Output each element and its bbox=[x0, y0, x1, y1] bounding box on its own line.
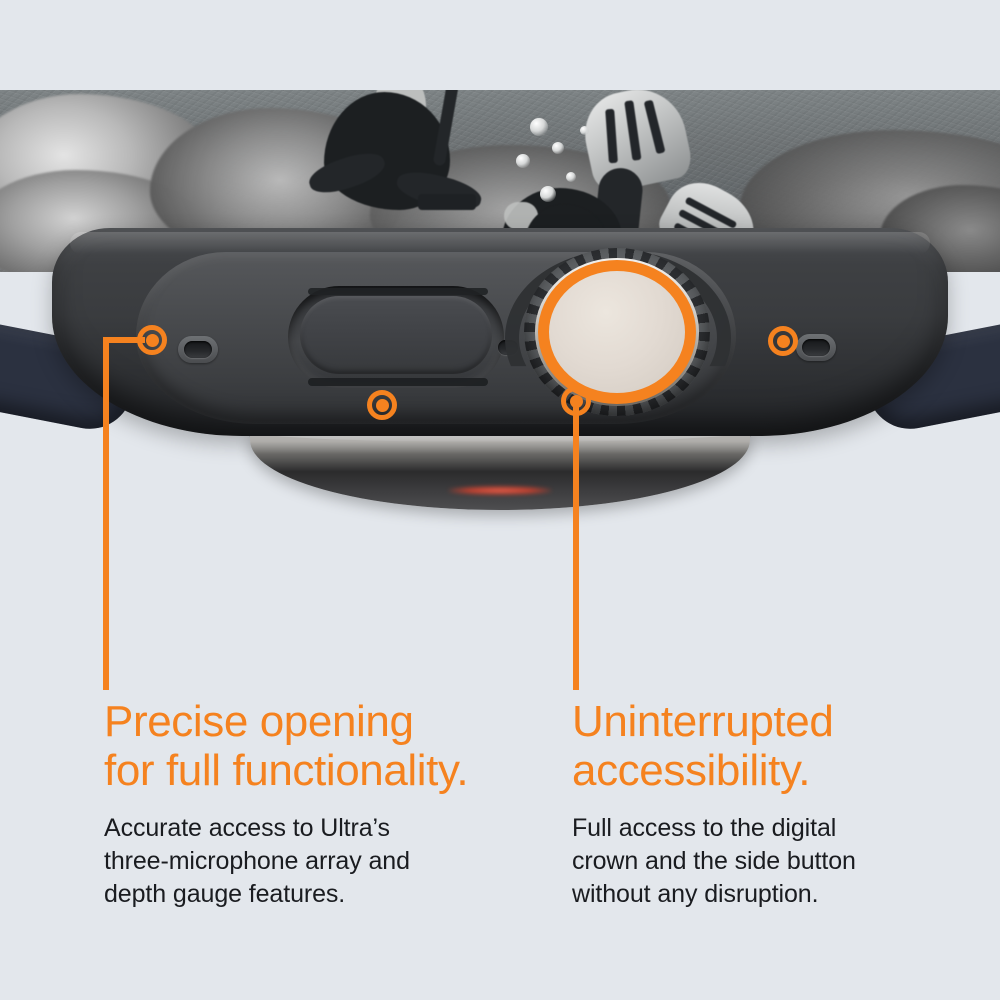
air-bubble bbox=[566, 172, 576, 182]
case-top-highlight bbox=[70, 232, 930, 254]
callout-heading-microphone: Precise opening for full functionality. bbox=[104, 697, 544, 796]
button-slot-lower bbox=[308, 378, 488, 386]
callout-heading-crown: Uninterrupted accessibility. bbox=[572, 697, 992, 796]
marker-dot bbox=[777, 335, 790, 348]
air-bubble bbox=[516, 154, 530, 168]
product-feature-callout-page: Precise opening for full functionality. … bbox=[0, 0, 1000, 1000]
scuba-diver-primary bbox=[300, 90, 480, 246]
sensor-back-glass bbox=[250, 430, 750, 510]
microphone-port-left bbox=[184, 341, 212, 358]
fin-rib bbox=[644, 100, 666, 155]
marker-dot bbox=[146, 334, 159, 347]
heading-line-1: Precise opening bbox=[104, 697, 414, 746]
marker-digital-crown[interactable] bbox=[561, 386, 591, 416]
leader-line-right-vertical bbox=[573, 398, 579, 690]
heading-line-1: Uninterrupted bbox=[572, 697, 833, 746]
side-button-pill bbox=[300, 296, 492, 374]
body-line-1: Full access to the digital bbox=[572, 814, 836, 842]
crown-highlight-ring bbox=[538, 260, 696, 404]
body-line-3: without any disruption. bbox=[572, 880, 818, 908]
air-bubble bbox=[552, 142, 564, 154]
callout-text-microphone: Precise opening for full functionality. … bbox=[104, 697, 544, 911]
fin-rib bbox=[624, 100, 641, 161]
callout-body-microphone: Accurate access to Ultra’s three-microph… bbox=[104, 812, 544, 911]
body-line-1: Accurate access to Ultra’s bbox=[104, 814, 390, 842]
callout-text-crown: Uninterrupted accessibility. Full access… bbox=[572, 697, 992, 911]
marker-dot bbox=[570, 395, 583, 408]
heart-rate-sensor-glow bbox=[448, 486, 552, 495]
leader-line-left-vertical bbox=[103, 337, 109, 690]
marker-side-button-right[interactable] bbox=[768, 326, 798, 356]
heading-line-2: for full functionality. bbox=[104, 746, 468, 795]
marker-dot bbox=[376, 399, 389, 412]
air-bubble bbox=[580, 126, 589, 135]
fin-rib bbox=[605, 109, 618, 163]
air-bubble bbox=[540, 186, 556, 202]
button-slot-upper bbox=[308, 288, 488, 295]
microphone-port-right bbox=[802, 339, 830, 356]
digital-crown bbox=[524, 248, 710, 420]
heading-line-2: accessibility. bbox=[572, 746, 810, 795]
body-line-2: three-microphone array and bbox=[104, 847, 410, 875]
body-line-2: crown and the side button bbox=[572, 847, 856, 875]
marker-depth-gauge-center[interactable] bbox=[367, 390, 397, 420]
diver-camera-rig bbox=[418, 194, 476, 210]
body-line-3: depth gauge features. bbox=[104, 880, 345, 908]
air-bubble bbox=[530, 118, 548, 136]
callout-body-crown: Full access to the digital crown and the… bbox=[572, 812, 992, 911]
marker-microphone-port-left[interactable] bbox=[137, 325, 167, 355]
